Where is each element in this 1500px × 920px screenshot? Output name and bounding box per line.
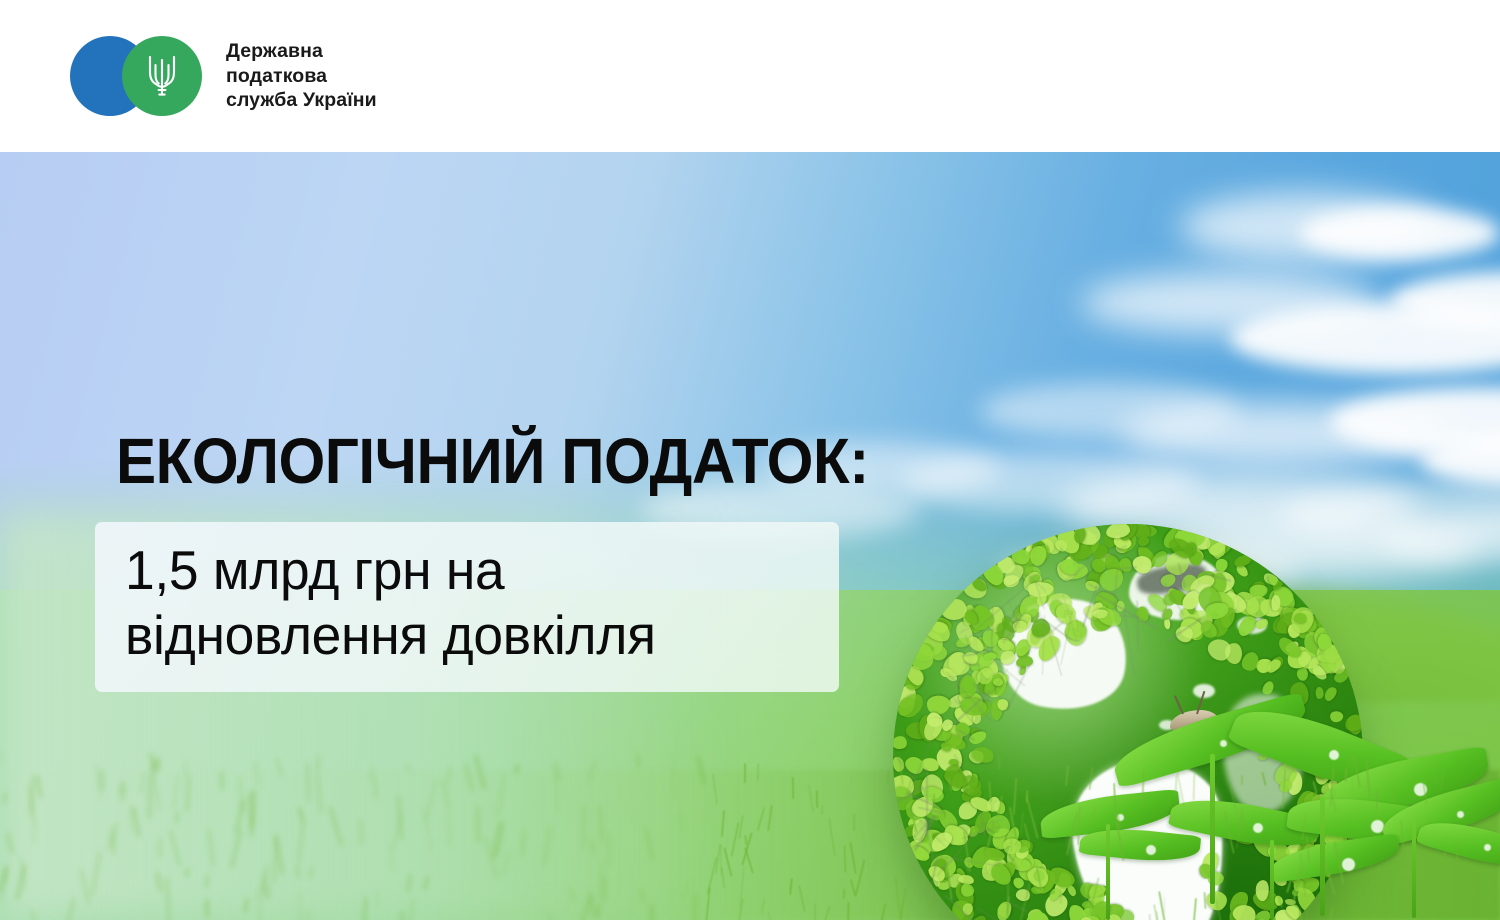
leaf-icon xyxy=(1258,596,1285,620)
vine-icon xyxy=(961,651,989,658)
leaf-icon xyxy=(939,740,952,752)
grass-blade-icon xyxy=(1351,753,1353,793)
leaf-icon xyxy=(973,604,997,629)
leaf-icon xyxy=(1211,548,1223,561)
leaf-icon xyxy=(1105,524,1130,539)
leaf-icon xyxy=(953,620,975,647)
leaf-icon xyxy=(1173,622,1197,645)
slide-canvas: ЕКОЛОГІЧНИЙ ПОДАТОК: 1,5 млрд грн на від… xyxy=(0,0,1500,920)
leaf-icon xyxy=(951,703,978,729)
leaf-icon xyxy=(893,736,907,751)
leaf-icon xyxy=(1304,631,1322,657)
leaf-icon xyxy=(967,647,997,677)
dew-drop-icon xyxy=(1253,823,1263,833)
leaf-icon xyxy=(1024,548,1040,567)
leaf-icon xyxy=(1101,525,1123,550)
leaf-icon xyxy=(1238,649,1262,674)
brand-logo[interactable]: Державна податкова служба України xyxy=(70,36,377,116)
leaf-icon xyxy=(1003,575,1020,588)
grass-blade-icon xyxy=(429,837,432,852)
leaf-icon xyxy=(1108,524,1139,555)
leaf-icon xyxy=(1296,668,1308,682)
leaf-icon xyxy=(957,874,974,886)
leaf-icon xyxy=(1179,628,1196,645)
leaf-icon xyxy=(945,821,974,848)
grass-blade-icon xyxy=(744,763,746,783)
leaf-icon xyxy=(1073,543,1092,560)
sprout-leaf-icon xyxy=(1020,700,1500,920)
leaf-icon xyxy=(1267,654,1286,673)
leaf-icon xyxy=(1084,565,1108,588)
grass-blade-icon xyxy=(1241,811,1243,832)
leaf-icon xyxy=(1175,529,1184,543)
leaf-icon xyxy=(952,880,977,910)
leaf-icon xyxy=(1255,658,1273,674)
leaf-icon xyxy=(1089,541,1110,561)
leaf-icon xyxy=(1311,663,1329,682)
leaf-icon xyxy=(995,900,1014,920)
leaf-icon xyxy=(995,677,1008,697)
vine-icon xyxy=(913,815,936,851)
leaf-icon xyxy=(1198,619,1220,642)
ukraine-trident-icon xyxy=(144,53,180,99)
leaf-icon xyxy=(1271,595,1282,611)
leaf-icon xyxy=(969,604,994,633)
dew-drop-icon xyxy=(1484,844,1491,851)
vine-icon xyxy=(1118,615,1139,619)
sprout-stem-icon xyxy=(1320,796,1325,916)
leaf-icon xyxy=(1177,535,1190,550)
vine-icon xyxy=(908,793,940,808)
leaf-icon xyxy=(956,799,980,822)
vine-icon xyxy=(991,607,994,652)
leaf-icon xyxy=(1028,586,1040,599)
leaf-icon xyxy=(970,698,995,720)
leaf-icon xyxy=(1031,543,1053,564)
leaf-icon xyxy=(1084,579,1101,593)
leaf-icon xyxy=(966,747,985,766)
leaf-icon xyxy=(968,729,989,746)
vine-icon xyxy=(953,754,975,783)
leaf-icon xyxy=(938,667,952,679)
leaf-icon xyxy=(946,691,969,710)
cloud-icon xyxy=(1300,207,1500,259)
logo-mark xyxy=(70,36,202,116)
vine-icon xyxy=(926,769,928,837)
leaf-icon xyxy=(1114,524,1140,543)
vine-icon xyxy=(1064,558,1093,582)
leaf-icon xyxy=(972,712,982,725)
leaf-icon xyxy=(1115,541,1128,554)
sprout-stem-icon xyxy=(1106,824,1110,920)
leaf-icon xyxy=(939,717,954,733)
dew-drop-icon xyxy=(1342,858,1355,871)
leaf-icon xyxy=(967,843,995,872)
leaf-icon xyxy=(924,710,945,731)
page-subtitle-line-2: відновлення довкілля xyxy=(125,603,656,668)
leaf-icon xyxy=(1102,552,1125,579)
leaf-icon xyxy=(976,652,1001,681)
leaf-icon xyxy=(1289,610,1316,641)
leaf-icon xyxy=(937,840,950,851)
page-title: ЕКОЛОГІЧНИЙ ПОДАТОК: xyxy=(116,424,869,498)
leaf-icon xyxy=(969,726,984,743)
leaf-icon xyxy=(1217,605,1237,629)
vine-icon xyxy=(965,635,972,653)
leaf-icon xyxy=(1238,599,1251,610)
leaf-icon xyxy=(942,725,963,747)
leaf-icon xyxy=(991,627,1003,641)
page-subtitle: 1,5 млрд грн на відновлення довкілля xyxy=(125,538,656,668)
brand-name-line-3: служба України xyxy=(226,88,377,113)
leaf-icon xyxy=(972,691,985,705)
brand-name-line-1: Державна xyxy=(226,39,377,64)
leaf-icon xyxy=(909,664,923,679)
leaf-icon xyxy=(1223,590,1239,613)
vine-icon xyxy=(957,728,975,741)
leaf-icon xyxy=(957,673,976,694)
vine-icon xyxy=(972,683,989,701)
sprout-stem-icon xyxy=(1210,754,1215,904)
leaf-icon xyxy=(1137,534,1151,547)
leaf-icon xyxy=(1111,532,1133,552)
leaf-icon xyxy=(1067,542,1090,562)
leaf-icon xyxy=(1098,566,1127,594)
leaf-icon xyxy=(932,875,941,887)
continent-speck xyxy=(1237,616,1267,634)
sprout-stem-icon xyxy=(1270,840,1274,920)
leaf-icon xyxy=(936,745,963,774)
leaf-icon xyxy=(954,721,971,739)
leaf-icon xyxy=(968,913,988,920)
leaf-icon xyxy=(919,715,945,743)
leaf-icon xyxy=(1058,556,1082,578)
leaf-icon xyxy=(985,855,999,874)
leaf-icon xyxy=(1020,562,1044,585)
vine-icon xyxy=(986,842,1010,874)
grass-blade-icon xyxy=(582,804,584,849)
leaf-icon xyxy=(1079,530,1103,556)
leaf-icon xyxy=(1194,627,1205,641)
leaf-icon xyxy=(983,650,997,665)
grass-blade-icon xyxy=(998,755,1000,770)
leaf-icon xyxy=(1287,623,1301,638)
leaf-icon xyxy=(1116,600,1125,611)
leaf-icon xyxy=(1315,687,1323,699)
vine-icon xyxy=(980,812,985,836)
leaf-icon xyxy=(918,825,951,857)
leaf-icon xyxy=(927,696,950,715)
leaf-icon xyxy=(996,902,1012,919)
grass-blade-icon xyxy=(608,832,610,866)
grass-blade-icon xyxy=(159,838,161,858)
vine-icon xyxy=(963,661,981,666)
leaf-icon xyxy=(970,744,995,766)
leaf-icon xyxy=(1072,526,1087,544)
leaf-icon xyxy=(1278,605,1302,625)
leaf-icon xyxy=(961,902,975,917)
leaf-icon xyxy=(984,653,997,661)
vine-icon xyxy=(1021,569,1046,592)
leaf-icon xyxy=(960,784,984,804)
leaf-icon xyxy=(1164,619,1170,630)
vine-icon xyxy=(1113,568,1118,607)
vine-icon xyxy=(1166,617,1202,642)
leaf-icon xyxy=(948,757,960,768)
vine-icon xyxy=(962,826,1001,840)
vine-icon xyxy=(977,669,1009,715)
vine-icon xyxy=(1103,545,1127,559)
leaf-icon xyxy=(964,605,991,636)
grass-blade-icon xyxy=(377,891,379,908)
leaf-icon xyxy=(1234,562,1249,579)
grass-blade-icon xyxy=(693,892,695,920)
leaf-icon xyxy=(1273,609,1302,637)
sprout-stem-icon xyxy=(1412,818,1416,918)
leaf-icon xyxy=(957,674,980,701)
leaf-icon xyxy=(1224,643,1242,665)
leaf-icon xyxy=(1190,630,1202,642)
leaf-icon xyxy=(955,867,967,880)
grass-blade-icon xyxy=(1406,879,1408,891)
dew-drop-icon xyxy=(1146,845,1156,855)
vine-icon xyxy=(906,740,931,799)
leaf-icon xyxy=(930,807,942,817)
leaf-icon xyxy=(992,677,1004,687)
vine-icon xyxy=(974,819,1003,828)
leaf-icon xyxy=(958,697,988,719)
leaf-icon xyxy=(956,688,985,715)
leaf-icon xyxy=(964,773,979,793)
leaf-icon xyxy=(1028,574,1042,585)
grass-blade-icon xyxy=(792,777,795,799)
leaf-icon xyxy=(943,732,969,754)
grass-blade-icon xyxy=(184,761,187,778)
leaf-icon xyxy=(942,766,970,790)
vine-icon xyxy=(1087,583,1114,597)
leaf-icon xyxy=(902,753,927,778)
leaf-icon xyxy=(1264,657,1283,675)
leaf-icon xyxy=(976,678,998,698)
leaf-icon xyxy=(961,883,975,897)
leaf-icon xyxy=(929,854,957,880)
dew-drop-icon xyxy=(1220,740,1227,747)
leaf-icon xyxy=(1117,557,1133,574)
leaf-icon xyxy=(1271,580,1284,592)
leaf-icon xyxy=(962,604,977,626)
leaf-icon xyxy=(974,665,996,687)
leaf-icon xyxy=(893,774,914,799)
leaf-icon xyxy=(932,724,952,742)
vine-icon xyxy=(912,768,927,777)
logo-green-circle-icon xyxy=(122,36,202,116)
leaf-icon xyxy=(1284,639,1302,655)
page-subtitle-line-1: 1,5 млрд грн на xyxy=(125,538,656,603)
vine-icon xyxy=(976,907,1021,920)
vine-icon xyxy=(937,827,982,876)
leaf-icon xyxy=(981,627,1000,648)
leaf-icon xyxy=(935,805,960,834)
leaf-icon xyxy=(1249,579,1269,601)
grass-blade-icon xyxy=(299,891,301,920)
leaf-icon xyxy=(955,637,971,649)
leaf-icon xyxy=(1250,585,1268,598)
dew-drop-icon xyxy=(1457,811,1464,818)
leaf-icon xyxy=(905,671,923,692)
leaf-icon xyxy=(1061,562,1089,581)
leaf-icon xyxy=(983,569,1007,592)
leaf-icon xyxy=(1053,537,1070,554)
vine-icon xyxy=(924,817,936,869)
leaf-icon xyxy=(927,829,955,855)
leaf-icon xyxy=(929,867,939,881)
vine-icon xyxy=(951,691,990,726)
leaf-icon xyxy=(1027,581,1054,597)
leaf-icon xyxy=(959,772,983,798)
leaf-icon xyxy=(966,823,982,838)
leaf-icon xyxy=(989,697,1005,721)
leaf-icon xyxy=(961,649,979,667)
leaf-icon xyxy=(963,608,980,626)
leaf-icon xyxy=(943,764,966,790)
leaf-icon xyxy=(988,860,1015,889)
leaf-icon xyxy=(1279,605,1300,631)
leaf-icon xyxy=(1204,634,1235,665)
leaf-icon xyxy=(1027,544,1049,568)
leaf-icon xyxy=(949,652,970,675)
leaf-icon xyxy=(995,697,1010,712)
leaf-icon xyxy=(1061,554,1076,571)
dew-drop-icon xyxy=(1371,820,1384,833)
leaf-icon xyxy=(977,637,988,650)
leaf-icon xyxy=(1266,574,1278,587)
leaf-icon xyxy=(938,647,971,680)
leaf-icon xyxy=(931,832,949,845)
dew-drop-icon xyxy=(1329,750,1339,760)
leaf-icon xyxy=(1293,611,1309,625)
leaf-icon xyxy=(1013,552,1037,578)
leaf-icon xyxy=(968,605,980,617)
leaf-icon xyxy=(952,701,979,728)
leaf-icon xyxy=(987,606,1005,633)
leaf-icon xyxy=(1090,555,1109,574)
vine-icon xyxy=(960,622,980,633)
vine-icon xyxy=(945,671,992,723)
vine-icon xyxy=(1119,566,1137,569)
leaf-icon xyxy=(904,721,929,741)
brand-name-line-2: податкова xyxy=(226,64,377,89)
leaf-icon xyxy=(1207,610,1235,641)
grass-blade-icon xyxy=(1241,775,1243,785)
leaf-icon xyxy=(1054,558,1077,583)
grass-blade-icon xyxy=(933,794,935,808)
leaf-icon xyxy=(1275,634,1304,662)
leaf-icon xyxy=(1307,653,1336,676)
leaf-icon xyxy=(1284,644,1313,671)
leaf-icon xyxy=(918,714,941,743)
leaf-icon xyxy=(926,862,948,884)
leaf-icon xyxy=(1130,524,1153,542)
leaf-icon xyxy=(930,643,950,662)
leaf-icon xyxy=(1296,649,1322,674)
vine-icon xyxy=(918,807,944,814)
leaf-icon xyxy=(966,634,986,654)
leaf-icon xyxy=(919,756,940,773)
leaf-icon xyxy=(1136,524,1159,539)
brand-name: Державна податкова служба України xyxy=(226,39,377,114)
leaf-icon xyxy=(954,767,974,787)
leaf-icon xyxy=(1021,569,1047,596)
header: Державна податкова служба України xyxy=(0,0,1500,152)
vine-icon xyxy=(954,699,980,731)
leaf-icon xyxy=(980,671,1009,700)
leaf-icon xyxy=(1093,551,1115,568)
leaf-icon xyxy=(1270,612,1299,636)
leaf-icon xyxy=(1059,532,1086,558)
leaf-icon xyxy=(942,667,958,684)
leaf-icon xyxy=(970,670,980,685)
leaf-icon xyxy=(1000,560,1027,587)
